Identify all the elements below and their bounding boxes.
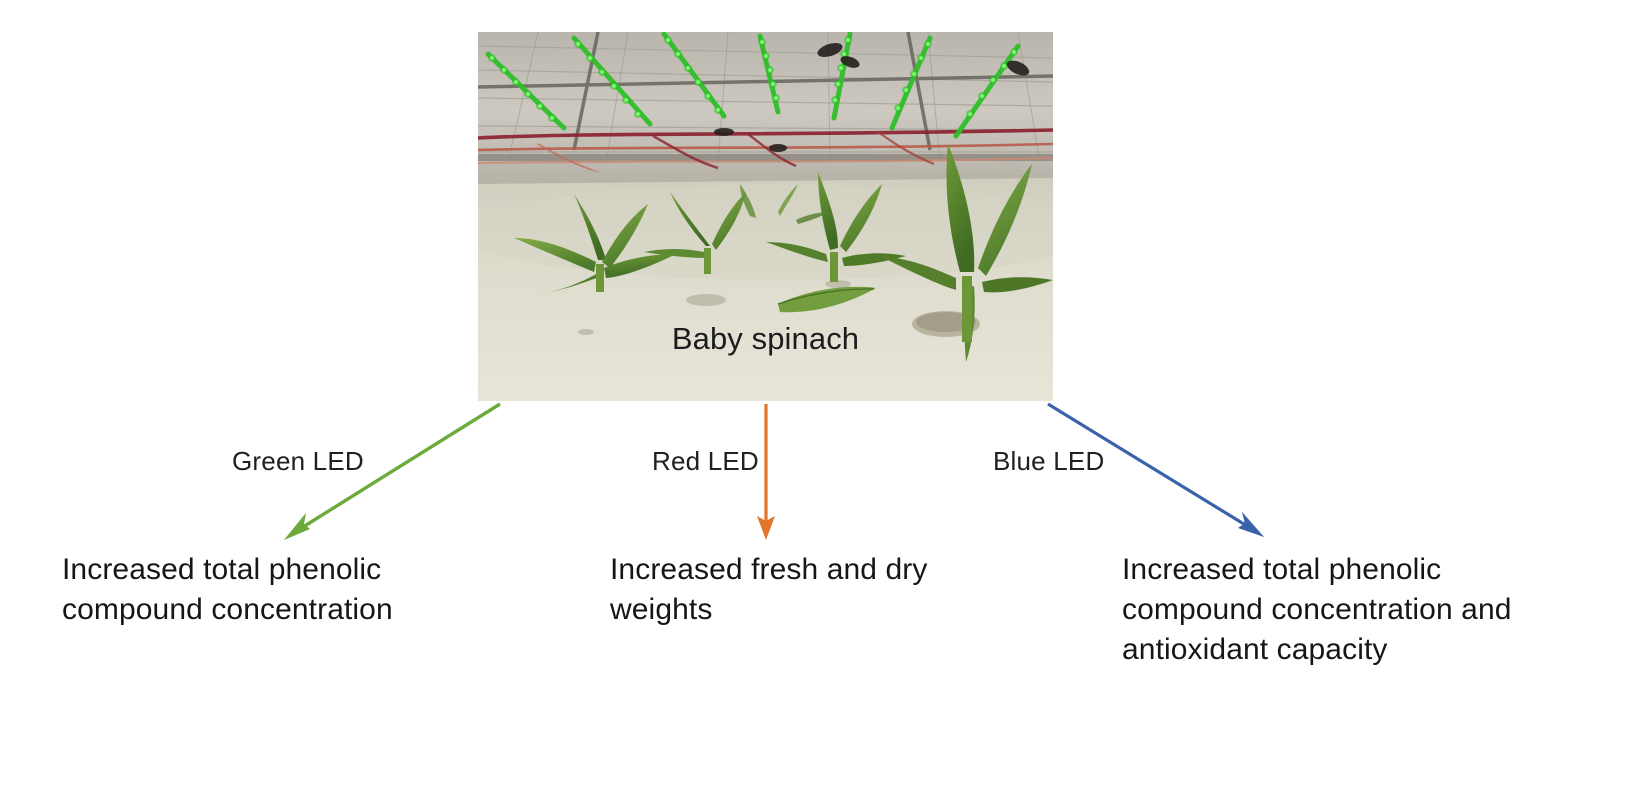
photo-caption: Baby spinach [478, 322, 1053, 356]
outcome-blue-led: Increased total phenolic compound concen… [1122, 550, 1552, 670]
figure-canvas: Baby spinach Green LED Red LED Blue LED … [0, 0, 1635, 787]
outcome-green-led: Increased total phenolic compound concen… [62, 550, 502, 630]
arrow-label-red-led: Red LED [652, 446, 759, 477]
arrow-red [757, 404, 775, 540]
arrow-label-green-led: Green LED [232, 446, 364, 477]
outcome-red-led: Increased fresh and dry weights [610, 550, 940, 630]
arrow-label-blue-led: Blue LED [993, 446, 1104, 477]
